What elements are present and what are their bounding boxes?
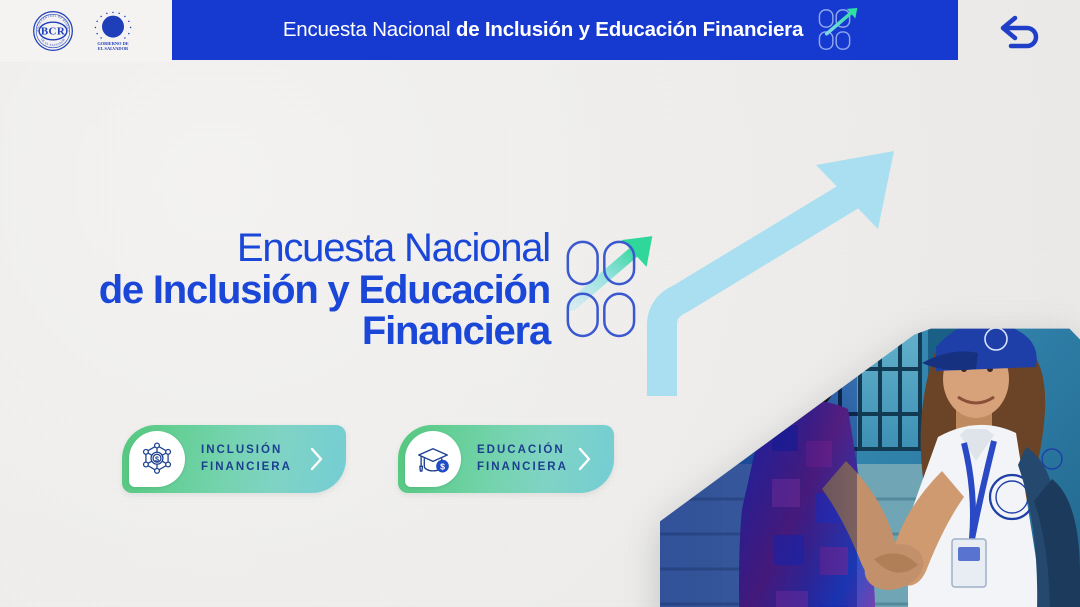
cta-label-line2: FINANCIERA	[477, 461, 568, 473]
gobierno-logo: GOBIERNO DE EL SALVADOR	[86, 9, 140, 53]
cta-icon-badge: $	[129, 431, 185, 487]
hero-title-line1: Encuesta Nacional	[99, 228, 550, 270]
graduation-cap-money-icon: $	[414, 440, 452, 478]
chevron-right-icon	[308, 446, 324, 472]
cta-inclusion-financiera[interactable]: $ INCLUSIÓN FINANCIERA	[122, 425, 346, 493]
hero-title-line3: Financiera	[99, 311, 550, 353]
svg-text:DE EL SALVADOR: DE EL SALVADOR	[40, 37, 66, 47]
svg-text:$: $	[155, 455, 159, 463]
cta-buttons: $ INCLUSIÓN FINANCIERA	[122, 425, 614, 493]
hero-title-block: Encuesta Nacional de Inclusión y Educaci…	[60, 228, 660, 353]
back-arrow-icon[interactable]	[995, 10, 1043, 52]
svg-text:$: $	[440, 461, 445, 471]
cta-label: EDUCACIÓN FINANCIERA	[477, 442, 568, 475]
header-title-regular: Encuesta Nacional	[283, 18, 456, 41]
svg-text:GOBIERNO DE: GOBIERNO DE	[97, 41, 128, 46]
cta-label-line1: EDUCACIÓN	[477, 444, 565, 456]
cta-label-line1: INCLUSIÓN	[201, 444, 282, 456]
hero-title: Encuesta Nacional de Inclusión y Educaci…	[99, 228, 550, 353]
cta-label-line2: FINANCIERA	[201, 461, 292, 473]
svg-text:BCR: BCR	[41, 25, 65, 37]
hero-section: Encuesta Nacional de Inclusión y Educaci…	[0, 62, 1080, 607]
header-logos: BCR BANCO CENTRAL DE RESERVA DE EL SALVA…	[0, 0, 172, 62]
cta-label: INCLUSIÓN FINANCIERA	[201, 442, 292, 475]
app-header: BCR BANCO CENTRAL DE RESERVA DE EL SALVA…	[0, 0, 1080, 62]
cta-educacion-financiera[interactable]: $ EDUCACIÓN FINANCIERA	[398, 425, 614, 493]
chevron-right-icon	[576, 446, 592, 472]
year-2025-logo-header	[817, 7, 865, 53]
header-title-bold: de Inclusión y Educación Financiera	[456, 18, 803, 41]
header-actions	[958, 0, 1080, 62]
hero-title-line2: de Inclusión y Educación	[99, 270, 550, 312]
header-title: Encuesta Nacional de Inclusión y Educaci…	[283, 18, 803, 42]
hero-artwork	[640, 124, 1080, 607]
cta-icon-badge: $	[405, 431, 461, 487]
svg-text:EL SALVADOR: EL SALVADOR	[98, 46, 129, 51]
photo-blue-tint	[660, 229, 857, 607]
header-title-bar: Encuesta Nacional de Inclusión y Educaci…	[172, 0, 958, 60]
bcr-logo: BCR BANCO CENTRAL DE RESERVA DE EL SALVA…	[32, 10, 74, 52]
hero-photo	[660, 229, 1080, 607]
network-money-icon: $	[138, 440, 176, 478]
